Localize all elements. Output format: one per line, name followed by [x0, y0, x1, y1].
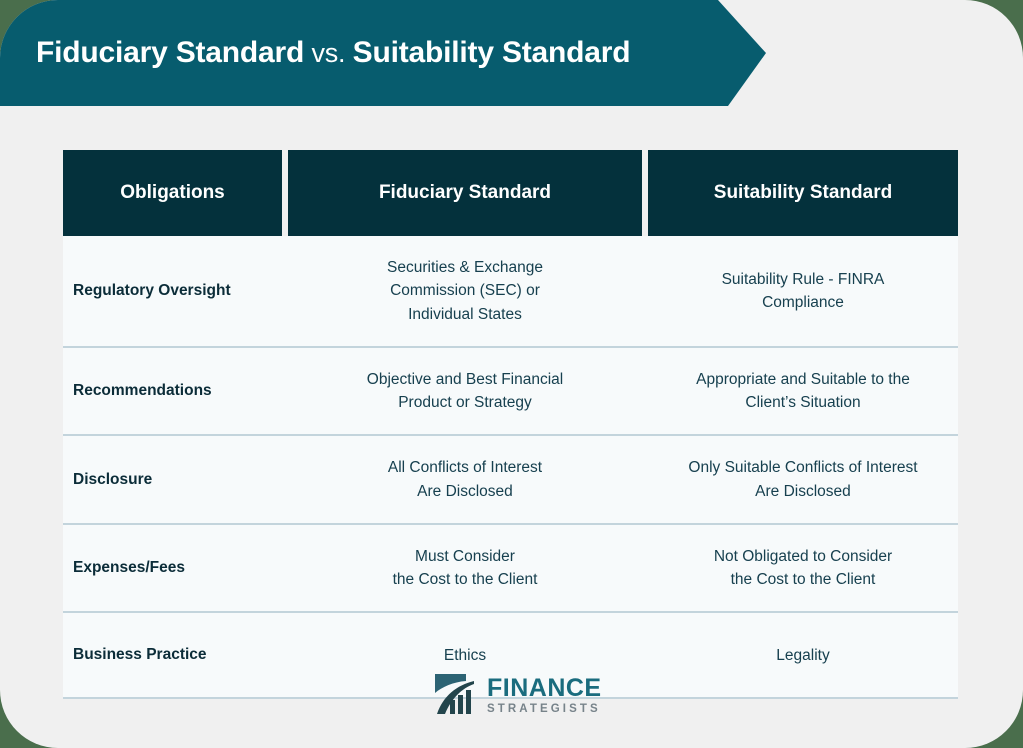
finance-strategists-logo: FINANCE STRATEGISTS: [433, 672, 593, 720]
column-header-suitability-standard: Suitability Standard: [648, 150, 958, 236]
comparison-table: Obligations Fiduciary Standard Suitabili…: [63, 150, 958, 699]
page-title-separator: vs.: [304, 38, 353, 68]
row-label: Recommendations: [63, 348, 282, 435]
column-header-obligations: Obligations: [63, 150, 282, 236]
cell-fiduciary: All Conflicts of InterestAre Disclosed: [288, 436, 642, 523]
row-label: Business Practice: [63, 613, 282, 697]
row-label: Expenses/Fees: [63, 525, 282, 612]
column-header-fiduciary-standard: Fiduciary Standard: [288, 150, 642, 236]
cell-suitability: Appropriate and Suitable to theClient’s …: [648, 348, 958, 435]
header-banner: Fiduciary Standard vs. Suitability Stand…: [0, 0, 766, 106]
page-title-part-1: Fiduciary Standard: [36, 36, 304, 69]
table-header-row: Obligations Fiduciary Standard Suitabili…: [63, 150, 958, 236]
cell-suitability: Not Obligated to Considerthe Cost to the…: [648, 525, 958, 612]
cell-fiduciary: Securities & ExchangeCommission (SEC) or…: [288, 236, 642, 346]
cell-suitability: Only Suitable Conflicts of InterestAre D…: [648, 436, 958, 523]
table-row: Disclosure All Conflicts of InterestAre …: [63, 436, 958, 525]
cell-suitability: Suitability Rule - FINRACompliance: [648, 236, 958, 346]
logo-primary-text: FINANCE: [487, 676, 602, 701]
cell-fiduciary: Objective and Best FinancialProduct or S…: [288, 348, 642, 435]
page-title-part-2: Suitability Standard: [353, 36, 631, 69]
page-title: Fiduciary Standard vs. Suitability Stand…: [36, 38, 630, 68]
table-row: Regulatory Oversight Securities & Exchan…: [63, 236, 958, 348]
finance-strategists-arch-icon: [433, 672, 479, 721]
table-row: Expenses/Fees Must Considerthe Cost to t…: [63, 525, 958, 614]
row-label: Regulatory Oversight: [63, 236, 282, 346]
logo-wordmark: FINANCE STRATEGISTS: [487, 676, 602, 716]
logo-secondary-text: STRATEGISTS: [487, 704, 602, 716]
cell-suitability: Legality: [648, 613, 958, 697]
cell-fiduciary: Must Considerthe Cost to the Client: [288, 525, 642, 612]
row-label: Disclosure: [63, 436, 282, 523]
table-row: Recommendations Objective and Best Finan…: [63, 348, 958, 437]
infographic-card: Fiduciary Standard vs. Suitability Stand…: [0, 0, 1023, 748]
